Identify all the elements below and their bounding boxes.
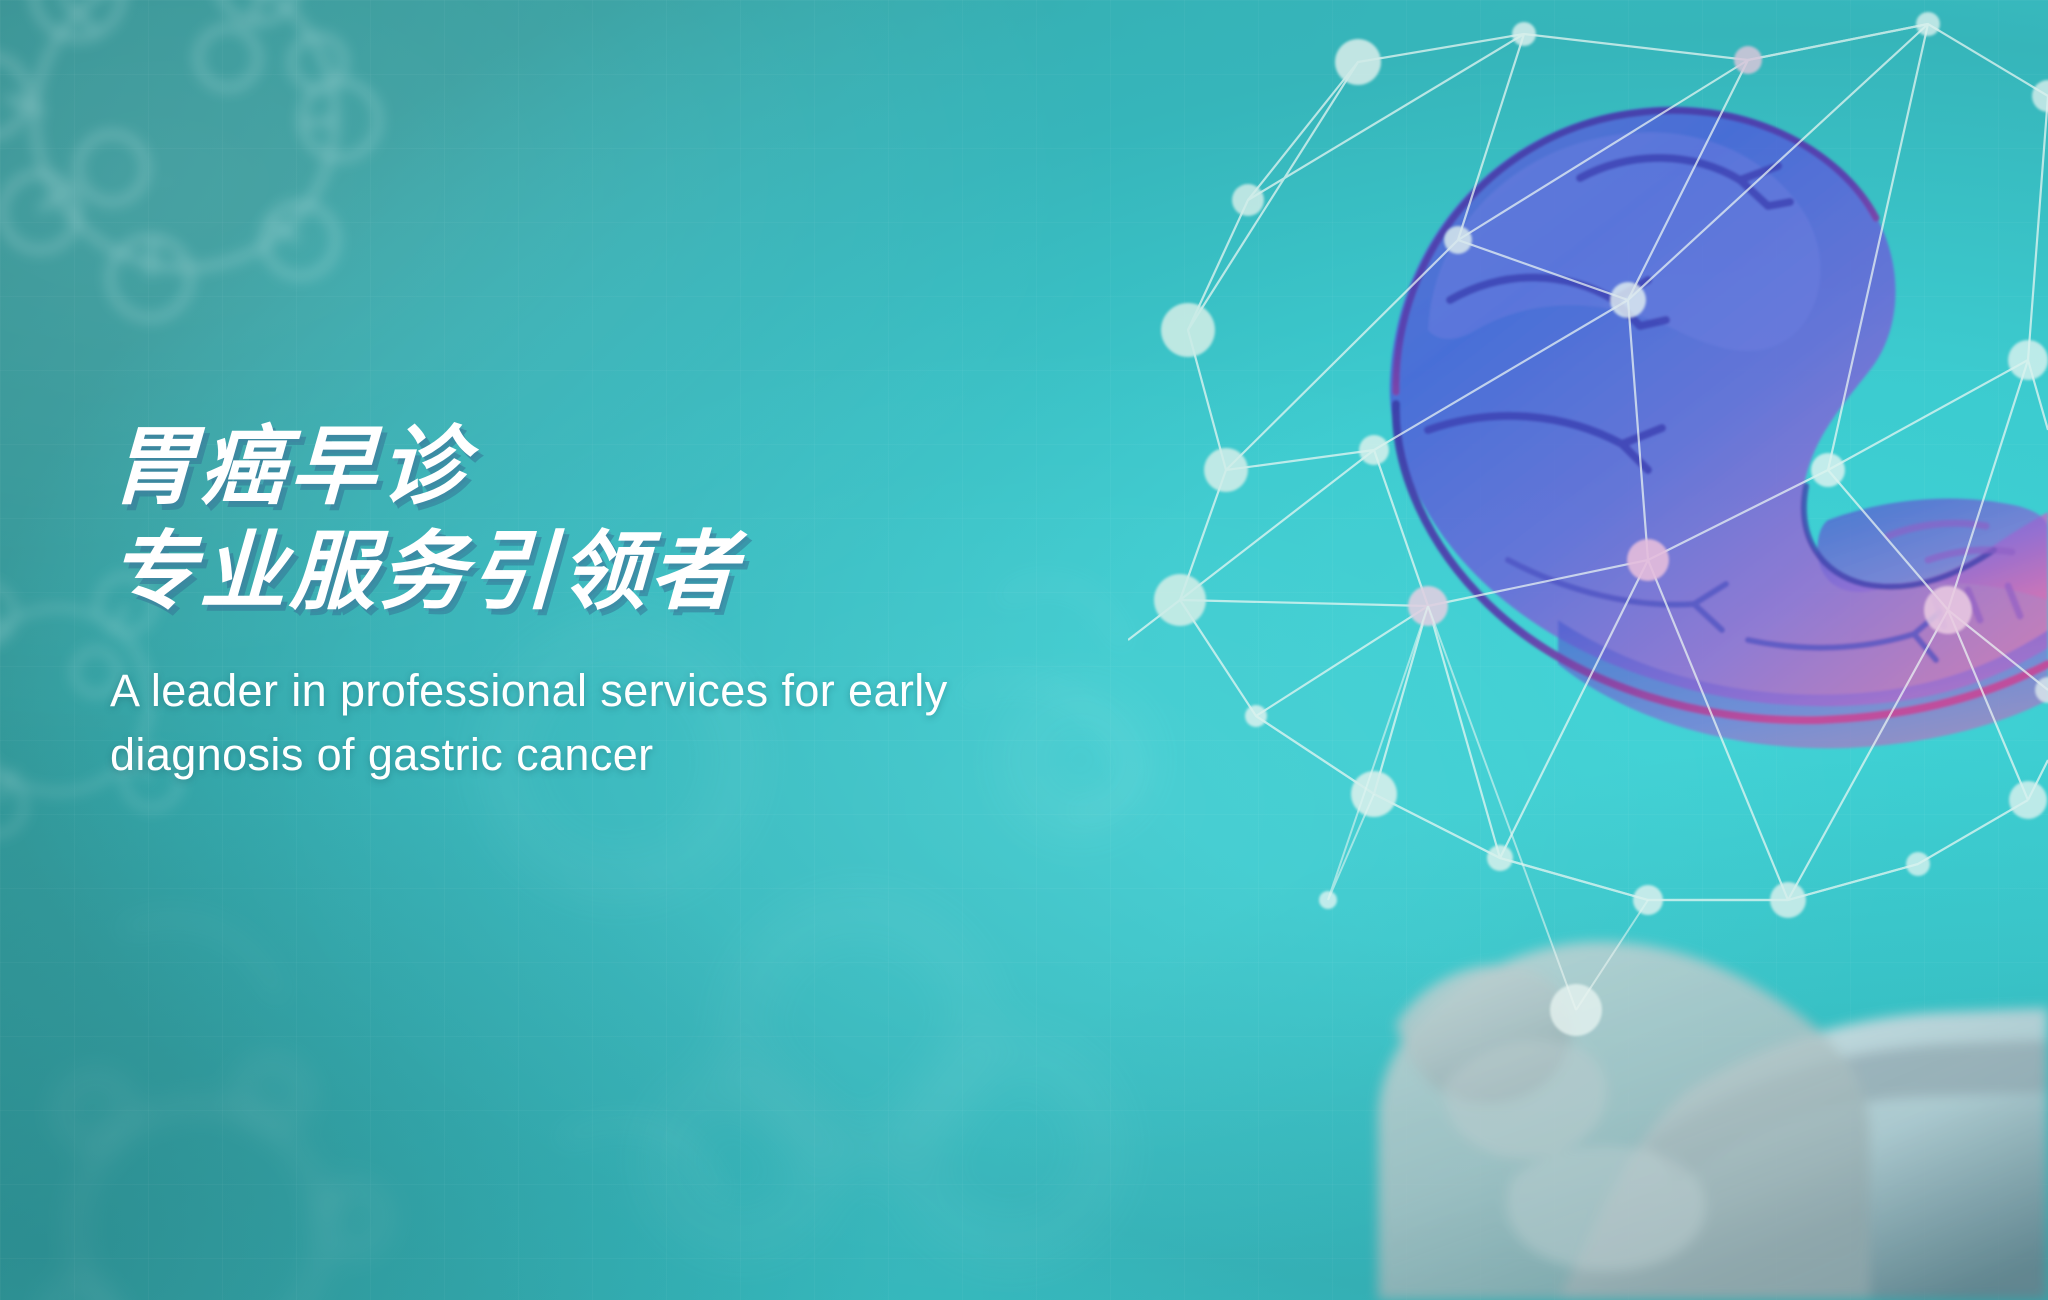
- headline-line-1: 胃癌早诊: [108, 415, 1212, 520]
- network-node: [1610, 282, 1646, 318]
- hero-illustration: [1128, 0, 2048, 1300]
- network-node: [1232, 184, 1264, 216]
- subtitle-line-1: A leader in professional services for ea…: [110, 659, 1130, 723]
- network-node: [1627, 539, 1669, 581]
- network-node: [1359, 435, 1389, 465]
- network-node: [1444, 226, 1472, 254]
- network-node: [1161, 303, 1215, 357]
- network-node: [2032, 80, 2048, 112]
- copy-block: 胃癌早诊 专业服务引领者 A leader in professional se…: [110, 415, 1210, 787]
- network-node: [2008, 340, 2048, 380]
- network-node: [1335, 39, 1381, 85]
- illustration-svg: [1128, 0, 2048, 1300]
- banner-root: 胃癌早诊 专业服务引领者 A leader in professional se…: [0, 0, 2048, 1300]
- hand-and-sleeve: [1378, 942, 2048, 1300]
- subtitle-line-2: diagnosis of gastric cancer: [110, 723, 1130, 787]
- network-node: [1734, 46, 1762, 74]
- network-node: [1916, 12, 1940, 36]
- network-node: [1245, 705, 1267, 727]
- network-node: [1204, 448, 1248, 492]
- network-node: [1770, 882, 1806, 918]
- network-node: [1906, 852, 1930, 876]
- network-node: [1924, 586, 1972, 634]
- network-node: [1811, 453, 1845, 487]
- stomach-illustration: [1390, 106, 2048, 748]
- network-node: [2009, 781, 2047, 819]
- network-node: [1487, 845, 1513, 871]
- headline-line-2: 专业服务引领者: [108, 520, 1212, 625]
- network-node: [1512, 22, 1536, 46]
- hand-thumb: [1507, 1146, 1706, 1271]
